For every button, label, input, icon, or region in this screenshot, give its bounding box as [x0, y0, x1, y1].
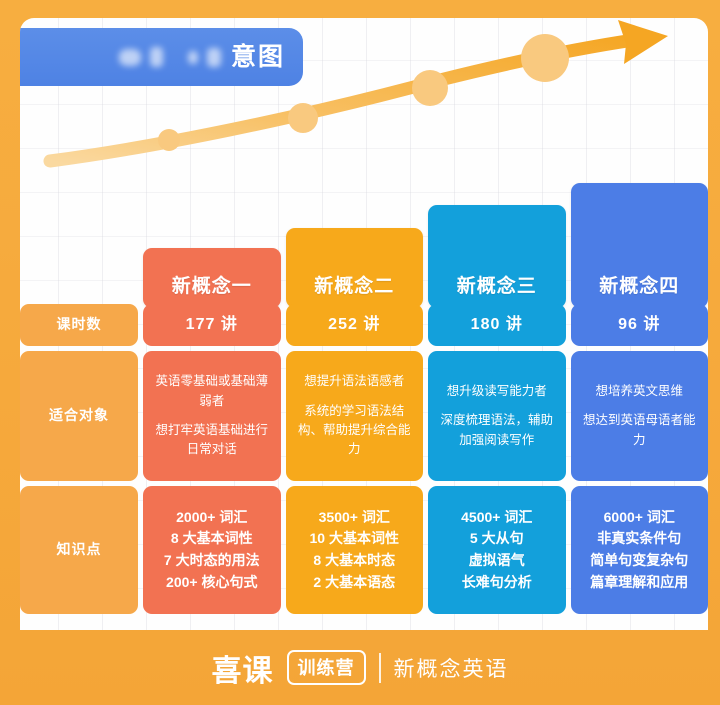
target-line-1: 想升级读写能力者 [436, 382, 558, 401]
cell-target-1: 英语零基础或基础薄弱者 想打牢英语基础进行日常对话 [143, 351, 281, 481]
point-line: 简单句变复杂句 [590, 550, 688, 572]
poster-root: 意图 新概念一 新概念二 新概念三 新概念四 课时数 177 讲 252 讲 1 [0, 0, 720, 705]
cell-points-1: 2000+ 词汇 8 大基本词性 7 大时态的用法 200+ 核心句式 [143, 486, 281, 614]
cell-points-3: 4500+ 词汇 5 大从句 虚拟语气 长难句分析 [428, 486, 566, 614]
comparison-table: 课时数 177 讲 252 讲 180 讲 96 讲 适合对象 英语零基础或基础… [20, 304, 708, 614]
blur-blob [207, 48, 221, 67]
point-line: 200+ 核心句式 [164, 572, 260, 594]
redacted-title-text [119, 47, 221, 67]
blur-blob [188, 51, 198, 64]
footer-subtitle: 新概念英语 [394, 653, 509, 683]
cell-points-4: 6000+ 词汇 非真实条件句 简单句变复杂句 篇章理解和应用 [571, 486, 709, 614]
point-line: 2000+ 词汇 [164, 507, 260, 529]
point-line: 5 大从句 [461, 528, 532, 550]
table-row-points: 知识点 2000+ 词汇 8 大基本词性 7 大时态的用法 200+ 核心句式 … [20, 486, 708, 614]
blur-blob [119, 49, 141, 66]
table-row-hours: 课时数 177 讲 252 讲 180 讲 96 讲 [20, 304, 708, 346]
point-line: 7 大时态的用法 [164, 550, 260, 572]
point-line: 8 大基本时态 [310, 550, 399, 572]
point-line: 3500+ 词汇 [310, 507, 399, 529]
brand-camp-badge: 训练营 [287, 650, 366, 685]
cell-hours-1: 177 讲 [143, 304, 281, 346]
target-line-1: 想培养英文思维 [579, 382, 701, 401]
point-line: 6000+ 词汇 [590, 507, 688, 529]
target-line-1: 想提升语法语感者 [294, 372, 416, 391]
point-line: 非真实条件句 [590, 528, 688, 550]
target-line-1: 英语零基础或基础薄弱者 [151, 372, 273, 411]
tab-level-4[interactable]: 新概念四 [571, 183, 709, 308]
tab-label: 新概念四 [599, 271, 679, 298]
point-line: 10 大基本词性 [310, 528, 399, 550]
tab-label: 新概念三 [457, 271, 537, 298]
tab-level-3[interactable]: 新概念三 [428, 205, 566, 308]
point-line: 8 大基本词性 [164, 528, 260, 550]
point-line: 长难句分析 [461, 572, 532, 594]
title-banner: 意图 [20, 28, 303, 86]
row-label-points: 知识点 [20, 486, 138, 614]
footer-brand-bar: 喜课 训练营 新概念英语 [0, 630, 720, 705]
point-line: 4500+ 词汇 [461, 507, 532, 529]
row-label-target: 适合对象 [20, 351, 138, 481]
cell-target-3: 想升级读写能力者 深度梳理语法，辅助加强阅读写作 [428, 351, 566, 481]
table-row-target: 适合对象 英语零基础或基础薄弱者 想打牢英语基础进行日常对话 想提升语法语感者 … [20, 351, 708, 481]
cell-hours-2: 252 讲 [286, 304, 424, 346]
blur-blob [150, 47, 163, 67]
tab-level-2[interactable]: 新概念二 [286, 228, 424, 308]
tab-label: 新概念一 [172, 271, 252, 298]
target-line-2: 系统的学习语法结构、帮助提升综合能力 [294, 402, 416, 460]
brand-name: 喜课 [212, 646, 274, 690]
cell-hours-4: 96 讲 [571, 304, 709, 346]
row-label-hours: 课时数 [20, 304, 138, 346]
cell-hours-3: 180 讲 [428, 304, 566, 346]
point-line: 虚拟语气 [461, 550, 532, 572]
page-title: 意图 [231, 45, 285, 70]
content-canvas: 意图 新概念一 新概念二 新概念三 新概念四 课时数 177 讲 252 讲 1 [20, 18, 708, 630]
point-line: 2 大基本语态 [310, 572, 399, 594]
footer-divider [379, 653, 381, 683]
cell-points-2: 3500+ 词汇 10 大基本词性 8 大基本时态 2 大基本语态 [286, 486, 424, 614]
target-line-2: 想达到英语母语者能力 [579, 411, 701, 450]
tab-level-1[interactable]: 新概念一 [143, 248, 281, 308]
cell-target-4: 想培养英文思维 想达到英语母语者能力 [571, 351, 709, 481]
target-line-2: 深度梳理语法，辅助加强阅读写作 [436, 411, 558, 450]
cell-target-2: 想提升语法语感者 系统的学习语法结构、帮助提升综合能力 [286, 351, 424, 481]
target-line-2: 想打牢英语基础进行日常对话 [151, 421, 273, 460]
point-line: 篇章理解和应用 [590, 572, 688, 594]
tab-label: 新概念二 [314, 271, 394, 298]
